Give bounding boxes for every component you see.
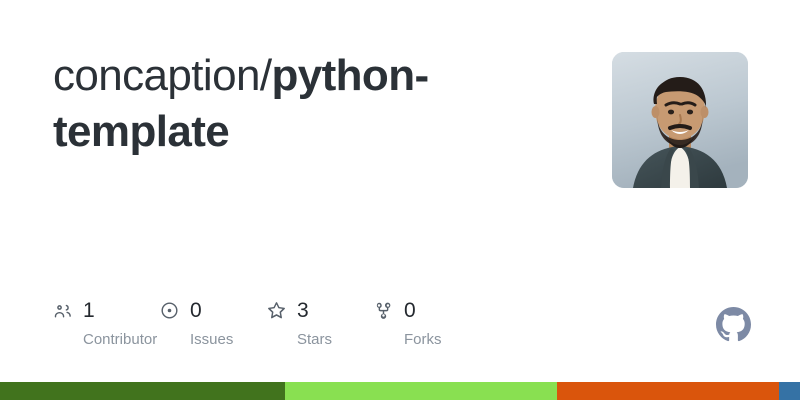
stat-value: 0: [404, 300, 416, 321]
stat-value: 1: [83, 300, 95, 321]
stat-label: Forks: [404, 331, 481, 348]
github-mark-icon: [716, 307, 751, 342]
stat-top-row: 0: [160, 298, 267, 322]
stat-label: Issues: [190, 331, 267, 348]
star-icon: [267, 301, 286, 320]
repo-forked-icon: [374, 301, 393, 320]
page-title: concaption/python-template: [53, 48, 573, 160]
repo-owner: concaption: [53, 51, 260, 100]
stat-value: 3: [297, 300, 309, 321]
title-separator: /: [260, 51, 272, 100]
stat-stars: 3 Stars: [267, 298, 374, 348]
stat-label: Stars: [297, 331, 374, 348]
stat-top-row: 1: [53, 298, 160, 322]
issue-opened-icon: [160, 301, 179, 320]
stat-issues: 0 Issues: [160, 298, 267, 348]
language-segment-3: [557, 382, 779, 400]
avatar: [612, 52, 748, 188]
repo-stats: 1 Contributor 0 Issues: [53, 298, 481, 348]
language-segment-1: [0, 382, 285, 400]
people-icon: [53, 301, 72, 320]
language-segment-4: [779, 382, 800, 400]
stat-label: Contributor: [83, 331, 160, 348]
stat-value: 0: [190, 300, 202, 321]
repo-social-preview-card: concaption/python-template: [0, 0, 800, 400]
stat-top-row: 0: [374, 298, 481, 322]
stat-contributors: 1 Contributor: [53, 298, 160, 348]
stat-top-row: 3: [267, 298, 374, 322]
language-segment-2: [285, 382, 557, 400]
stat-forks: 0 Forks: [374, 298, 481, 348]
language-bar: [0, 382, 800, 400]
